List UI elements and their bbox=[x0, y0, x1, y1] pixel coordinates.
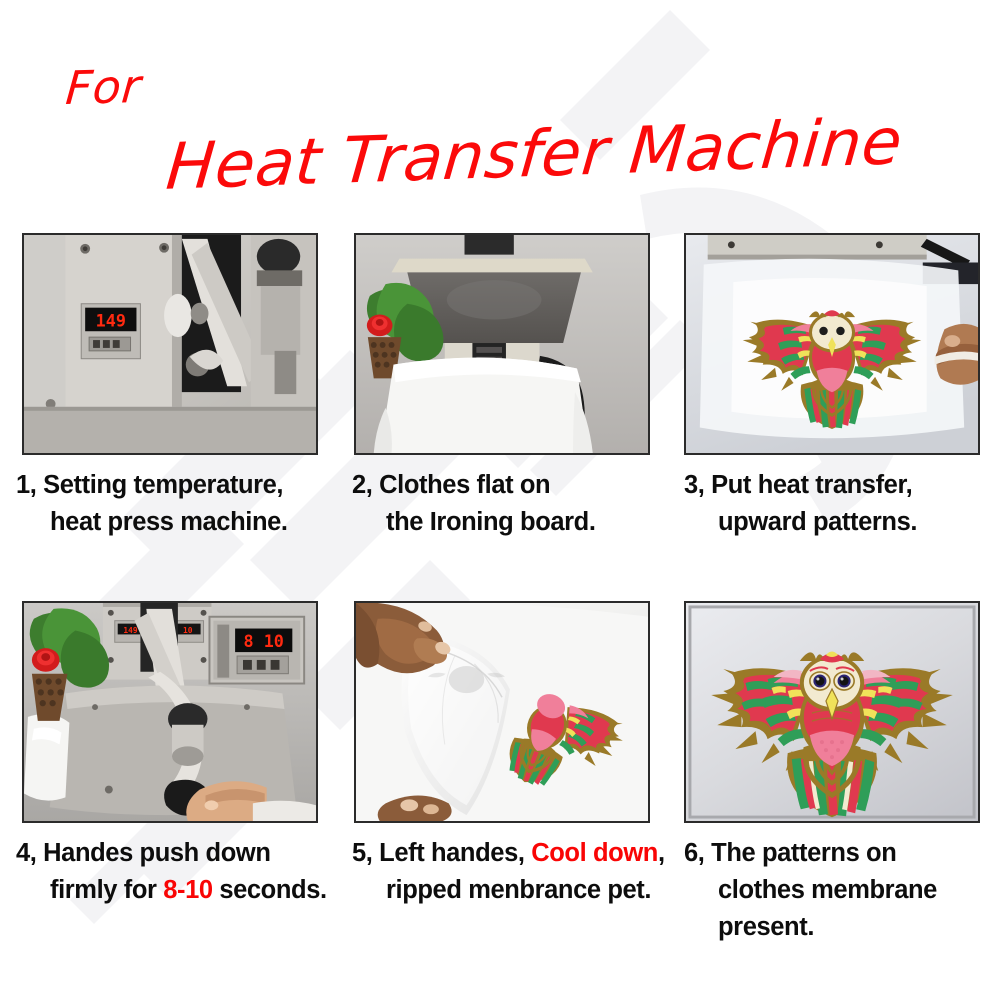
caption-highlight-cool-down: Cool down bbox=[531, 839, 658, 867]
step-caption-5: 5, Left handes, Cool down, ripped menbra… bbox=[334, 835, 668, 909]
caption-line-1: 1, Setting temperature, bbox=[16, 467, 334, 504]
caption-text-post: , bbox=[658, 839, 665, 867]
caption-line-2: the Ironing board. bbox=[352, 504, 668, 541]
step-cell-4: 149 10 bbox=[0, 583, 334, 951]
step-cell-6: 6, The patterns on clothes membrane pres… bbox=[668, 583, 1002, 951]
caption-line-1: 5, Left handes, Cool down, bbox=[352, 835, 668, 872]
step-cell-1: 149 1, Setting temperature, heat press m… bbox=[0, 215, 334, 583]
title-prefix: For bbox=[64, 59, 143, 115]
title-main: Heat Transfer Machine bbox=[163, 105, 905, 205]
step-caption-3: 3, Put heat transfer, upward patterns. bbox=[668, 467, 1002, 541]
caption-text-pre: firmly for bbox=[50, 876, 163, 904]
steps-row-2: 149 10 bbox=[0, 583, 1002, 951]
svg-text:10: 10 bbox=[183, 626, 193, 635]
step-caption-4: 4, Handes push down firmly for 8-10 seco… bbox=[0, 835, 334, 909]
step-caption-1: 1, Setting temperature, heat press machi… bbox=[0, 467, 334, 541]
step-cell-2: 2, Clothes flat on the Ironing board. bbox=[334, 215, 668, 583]
photo-press-platen-raised-over-cloth bbox=[354, 233, 650, 455]
caption-text-pre: 5, Left handes, bbox=[352, 839, 531, 867]
steps-row-1: 149 1, Setting temperature, heat press m… bbox=[0, 215, 1002, 583]
photo-press-handle-pushed-down-with-timer-inset: 149 10 bbox=[22, 601, 318, 823]
caption-line-2: heat press machine. bbox=[16, 504, 334, 541]
controller-digits: 149 bbox=[96, 310, 126, 330]
step-cell-3: 3, Put heat transfer, upward patterns. bbox=[668, 215, 1002, 583]
steps-grid: 149 1, Setting temperature, heat press m… bbox=[0, 215, 1002, 951]
caption-line-2: clothes membrane present. bbox=[684, 872, 1002, 946]
page-title: For Heat Transfer Machine bbox=[0, 0, 1002, 215]
caption-line-1: 2, Clothes flat on bbox=[352, 467, 668, 504]
photo-peeling-carrier-film-off-owl-design bbox=[354, 601, 650, 823]
photo-heat-press-temperature-controller: 149 bbox=[22, 233, 318, 455]
caption-line-1: 3, Put heat transfer, bbox=[684, 467, 1002, 504]
photo-owl-transfer-film-placed-on-cloth bbox=[684, 233, 980, 455]
svg-text:8 10: 8 10 bbox=[244, 631, 284, 651]
caption-highlight-duration: 8-10 bbox=[163, 876, 212, 904]
timer-digits: 8 10 bbox=[244, 631, 284, 651]
caption-line-2: firmly for 8-10 seconds. bbox=[16, 872, 334, 909]
caption-line-1: 4, Handes push down bbox=[16, 835, 334, 872]
caption-line-2: upward patterns. bbox=[684, 504, 1002, 541]
svg-text:149: 149 bbox=[123, 626, 137, 635]
caption-line-2: ripped menbrance pet. bbox=[352, 872, 668, 909]
timer-display-inset: 8 10 bbox=[209, 617, 304, 684]
photo-finished-owl-pattern-on-garment bbox=[684, 601, 980, 823]
step-caption-6: 6, The patterns on clothes membrane pres… bbox=[668, 835, 1002, 946]
caption-text-post: seconds. bbox=[213, 876, 327, 904]
caption-line-1: 6, The patterns on bbox=[684, 835, 1002, 872]
step-caption-2: 2, Clothes flat on the Ironing board. bbox=[334, 467, 668, 541]
svg-text:149: 149 bbox=[96, 310, 126, 330]
step-cell-5: 5, Left handes, Cool down, ripped menbra… bbox=[334, 583, 668, 951]
